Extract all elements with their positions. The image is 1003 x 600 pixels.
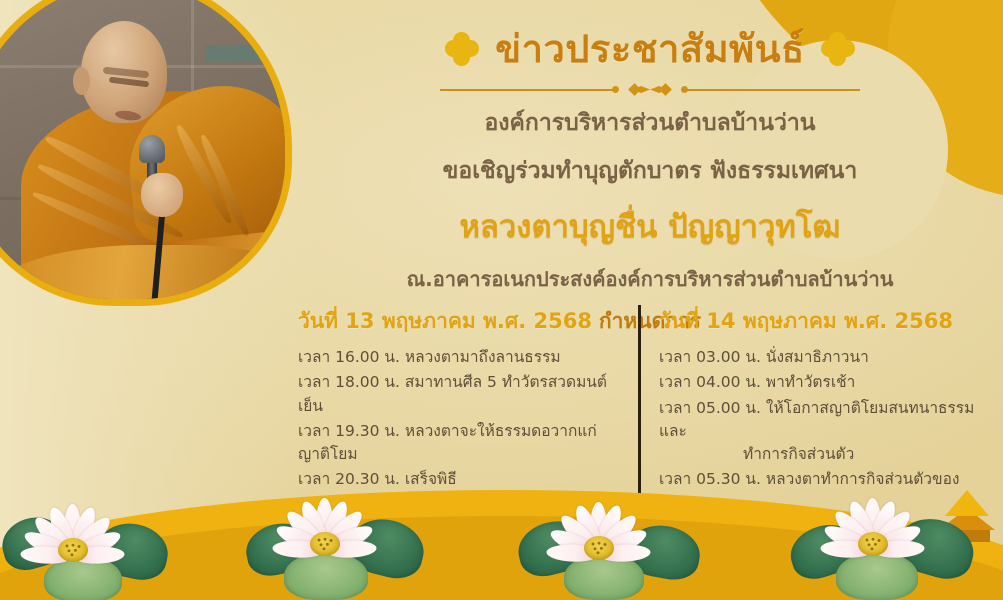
announcement-poster: ข่าวประชาสัมพันธ์ องค์การบริหารส่วนตำบลบ… (0, 0, 1003, 600)
schedule-item-text: เวลา 20.30 น. เสร็จพิธี (298, 470, 457, 488)
lotus-bloom-icon (20, 500, 124, 592)
invitation-line: ขอเชิญร่วมทำบุญตักบาตร ฟังธรรมเทศนา (300, 153, 1000, 189)
venue-line: ณ.อาคารอเนกประสงค์องค์การบริหารส่วนตำบลบ… (300, 263, 1000, 295)
schedule-item-text: เวลา 04.00 น. พาทำวัตรเช้า (659, 373, 855, 391)
schedule-item: เวลา 03.00 น. นั่งสมาธิภาวนา (659, 346, 980, 369)
schedule-item-text: เวลา 18.00 น. สมาทานศีล 5 ทำวัตรสวดมนต์เ… (298, 373, 607, 414)
poster-header: ข่าวประชาสัมพันธ์ องค์การบริหารส่วนตำบลบ… (300, 18, 1000, 338)
clover-flower-icon (445, 32, 479, 66)
schedule-item-continuation: ทำการกิจส่วนตัว (659, 443, 980, 466)
schedule-item: เวลา 16.00 น. หลวงตามาถึงลานธรรม (280, 346, 622, 369)
schedule-item-text: เวลา 19.30 น. หลวงตาจะให้ธรรมดอวากแก่ญาต… (298, 422, 597, 463)
monk-photo-image (0, 0, 285, 299)
monk-ear (73, 67, 90, 95)
schedule-date-heading: วันที่ 13 พฤษภาคม พ.ศ. 2568 (280, 305, 622, 338)
schedule-item: เวลา 19.30 น. หลวงตาจะให้ธรรมดอวากแก่ญาต… (280, 420, 622, 467)
schedule-item-text: เวลา 05.00 น. ให้โอกาสญาติโยมสนทนาธรรมแล… (659, 399, 974, 440)
lotus-bloom-icon (272, 494, 376, 586)
schedule-item: เวลา 20.30 น. เสร็จพิธี (280, 468, 622, 491)
schedule-date-heading: วันที่ 14 พฤษภาคม พ.ศ. 2568 (659, 305, 980, 338)
lotus-flower-decoration (14, 490, 164, 600)
monk-hand (141, 173, 183, 217)
clover-flower-icon (821, 32, 855, 66)
lotus-bloom-icon (820, 494, 924, 586)
monk-photo (0, 0, 292, 306)
ornamental-divider (440, 83, 860, 97)
lotus-flower-decoration (538, 490, 688, 600)
schedule-item: เวลา 05.00 น. ให้โอกาสญาติโยมสนทนาธรรมแล… (659, 397, 980, 467)
schedule-item: เวลา 18.00 น. สมาทานศีล 5 ทำวัตรสวดมนต์เ… (280, 371, 622, 418)
monk-name: หลวงตาบุญชื่น ปัญญาวุทโฒ (300, 201, 1000, 251)
title-row: ข่าวประชาสัมพันธ์ (300, 18, 1000, 79)
schedule-item-text: เวลา 16.00 น. หลวงตามาถึงลานธรรม (298, 348, 561, 366)
schedule-item: เวลา 04.00 น. พาทำวัตรเช้า (659, 371, 980, 394)
lotus-flower-decoration (812, 490, 962, 600)
lotus-bloom-icon (546, 498, 650, 590)
lotus-flower-decoration (262, 490, 412, 600)
photo-wall-accent (205, 45, 285, 61)
organization-line: องค์การบริหารส่วนตำบลบ้านว่าน (300, 105, 1000, 141)
microphone-head (139, 135, 165, 163)
page-title: ข่าวประชาสัมพันธ์ (495, 18, 805, 79)
photo-wall-seam (191, 0, 194, 93)
schedule-item-text: เวลา 03.00 น. นั่งสมาธิภาวนา (659, 348, 869, 366)
